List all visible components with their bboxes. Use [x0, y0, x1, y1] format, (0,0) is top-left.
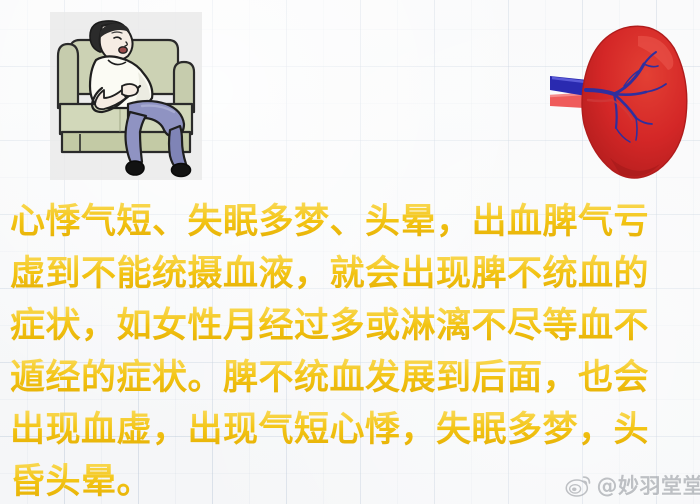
- weibo-icon: [565, 472, 592, 499]
- caption-line-3: 症状，如女性月经过多或淋漓不尽等血不: [0, 300, 700, 352]
- caption-block: 心悸气短、失眠多梦、头晕，出血脾气亏 虚到不能统摄血液，就会出现脾不统血的 症状…: [0, 196, 700, 504]
- caption-line-4: 遁经的症状。脾不统血发展到后面，也会: [0, 352, 700, 404]
- caption-line-5: 出现血虚，出现气短心悸，失眠多梦，头: [0, 404, 700, 456]
- person-illustration-panel: [50, 12, 202, 180]
- person-reclining-on-sofa-icon: [50, 12, 202, 180]
- spleen-organ-icon: [540, 12, 700, 190]
- watermark-handle: @妙羽堂堂: [597, 470, 700, 500]
- infographic-screen: 心悸气短、失眠多梦、头晕，出血脾气亏 虚到不能统摄血液，就会出现脾不统血的 症状…: [0, 0, 700, 504]
- watermark: @妙羽堂堂: [565, 470, 700, 500]
- caption-line-2: 虚到不能统摄血液，就会出现脾不统血的: [0, 248, 700, 300]
- caption-line-1: 心悸气短、失眠多梦、头晕，出血脾气亏: [0, 196, 700, 248]
- spleen-illustration: [540, 12, 700, 190]
